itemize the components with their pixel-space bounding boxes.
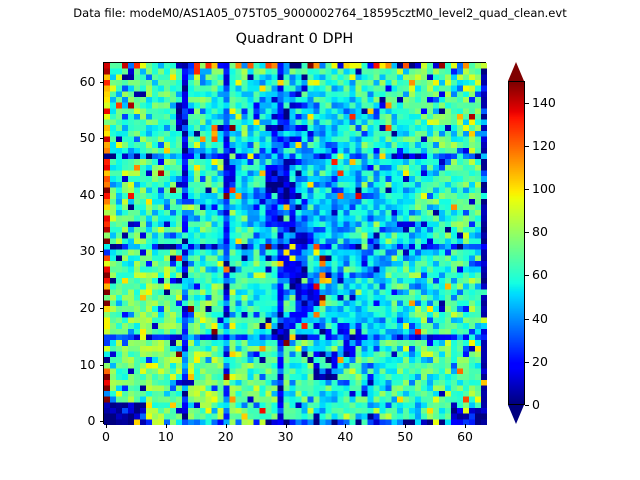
- y-tick-label: 50: [56, 131, 96, 145]
- x-tick-label: 0: [86, 430, 126, 444]
- y-tick-mark: [100, 421, 104, 422]
- colorbar-tick-label: 20: [532, 355, 548, 369]
- page-title: Quadrant 0 DPH: [103, 31, 486, 48]
- colorbar-tick-label: 40: [532, 312, 548, 326]
- colorbar-tick-mark: [525, 189, 529, 190]
- colorbar-gradient: [508, 81, 525, 405]
- x-tick-mark: [345, 424, 346, 428]
- heatmap-canvas: [104, 63, 487, 425]
- colorbar-tick-mark: [525, 362, 529, 363]
- x-tick-mark: [286, 424, 287, 428]
- colorbar-tick-label: 60: [532, 268, 548, 282]
- colorbar-tick-mark: [525, 146, 529, 147]
- colorbar-extend-bottom-arrow: [508, 405, 524, 424]
- colorbar-tick-mark: [525, 275, 529, 276]
- colorbar-tick-label: 100: [532, 182, 556, 196]
- x-tick-label: 60: [445, 430, 485, 444]
- y-tick-mark: [100, 138, 104, 139]
- x-tick-label: 20: [206, 430, 246, 444]
- x-tick-label: 50: [385, 430, 425, 444]
- x-tick-label: 30: [266, 430, 306, 444]
- y-tick-mark: [100, 365, 104, 366]
- colorbar-tick-mark: [525, 405, 529, 406]
- y-tick-label: 20: [56, 301, 96, 315]
- x-tick-mark: [166, 424, 167, 428]
- colorbar-extend-top-arrow: [508, 62, 524, 81]
- x-tick-mark: [465, 424, 466, 428]
- colorbar-tick-mark: [525, 103, 529, 104]
- colorbar-tick-mark: [525, 232, 529, 233]
- colorbar-canvas: [509, 82, 524, 404]
- colorbar: 020406080100120140: [508, 62, 525, 424]
- y-tick-label: 0: [56, 414, 96, 428]
- y-tick-label: 10: [56, 358, 96, 372]
- colorbar-tick-label: 120: [532, 139, 556, 153]
- y-tick-label: 60: [56, 75, 96, 89]
- heatmap-axes: [103, 62, 486, 424]
- colorbar-tick-label: 0: [532, 398, 540, 412]
- y-tick-mark: [100, 308, 104, 309]
- x-tick-mark: [106, 424, 107, 428]
- colorbar-tick-label: 140: [532, 96, 556, 110]
- colorbar-tick-mark: [525, 319, 529, 320]
- y-tick-label: 30: [56, 244, 96, 258]
- heatmap-image: [104, 63, 487, 425]
- y-tick-label: 40: [56, 188, 96, 202]
- x-tick-mark: [226, 424, 227, 428]
- x-tick-label: 40: [325, 430, 365, 444]
- data-file-suptitle: Data file: modeM0/AS1A05_075T05_90000027…: [0, 6, 640, 20]
- x-tick-mark: [405, 424, 406, 428]
- colorbar-tick-label: 80: [532, 225, 548, 239]
- x-tick-label: 10: [146, 430, 186, 444]
- matplotlib-figure: Data file: modeM0/AS1A05_075T05_90000027…: [0, 0, 640, 480]
- y-tick-mark: [100, 251, 104, 252]
- y-tick-mark: [100, 195, 104, 196]
- y-tick-mark: [100, 82, 104, 83]
